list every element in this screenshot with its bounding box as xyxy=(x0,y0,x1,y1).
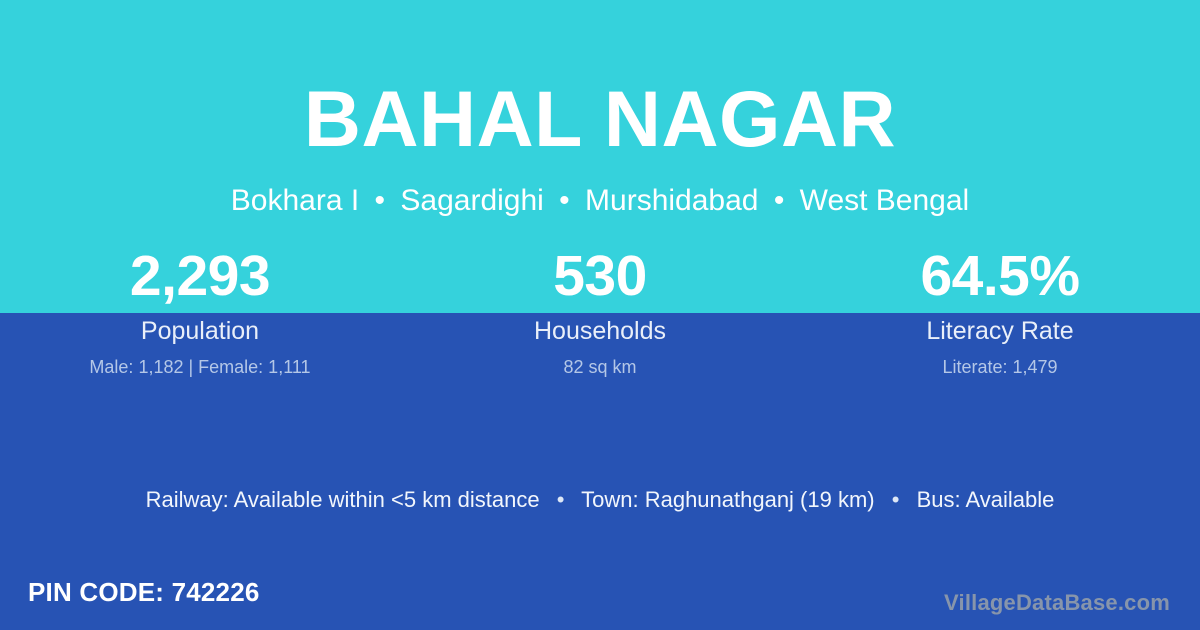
amenity-separator: • xyxy=(881,487,911,512)
stat-label: Households xyxy=(400,314,800,348)
stat-households: 530 Households 82 sq km xyxy=(400,240,800,380)
stat-sublabel: Male: 1,182 | Female: 1,111 xyxy=(0,354,400,380)
amenities-line: Railway: Available within <5 km distance… xyxy=(0,485,1200,515)
breadcrumb-separator: • xyxy=(552,184,577,217)
stat-label: Population xyxy=(0,314,400,348)
stat-value: 530 xyxy=(400,240,800,312)
site-watermark: VillageDataBase.com xyxy=(944,588,1170,618)
stats-row: 2,293 Population Male: 1,182 | Female: 1… xyxy=(0,240,1200,380)
amenity-bus: Bus: Available xyxy=(917,487,1055,512)
breadcrumb-item-district: Murshidabad xyxy=(585,184,758,217)
stat-sublabel: 82 sq km xyxy=(400,354,800,380)
breadcrumb-separator: • xyxy=(368,184,393,217)
breadcrumb-item-state: West Bengal xyxy=(800,184,970,217)
breadcrumb: Bokhara I • Sagardighi • Murshidabad • W… xyxy=(0,181,1200,220)
breadcrumb-separator: • xyxy=(767,184,792,217)
amenity-town: Town: Raghunathganj (19 km) xyxy=(581,487,875,512)
page-title: BAHAL NAGAR xyxy=(0,78,1200,161)
pin-code: PIN CODE: 742226 xyxy=(28,575,260,609)
village-info-card: BAHAL NAGAR Bokhara I • Sagardighi • Mur… xyxy=(0,0,1200,630)
stat-value: 2,293 xyxy=(0,240,400,312)
amenity-railway: Railway: Available within <5 km distance xyxy=(146,487,540,512)
stat-literacy-rate: 64.5% Literacy Rate Literate: 1,479 xyxy=(800,240,1200,380)
breadcrumb-item-block: Bokhara I xyxy=(231,184,359,217)
stat-population: 2,293 Population Male: 1,182 | Female: 1… xyxy=(0,240,400,380)
breadcrumb-item-subdistrict: Sagardighi xyxy=(400,184,543,217)
amenity-separator: • xyxy=(546,487,576,512)
stat-sublabel: Literate: 1,479 xyxy=(800,354,1200,380)
stat-value: 64.5% xyxy=(800,240,1200,312)
stat-label: Literacy Rate xyxy=(800,314,1200,348)
